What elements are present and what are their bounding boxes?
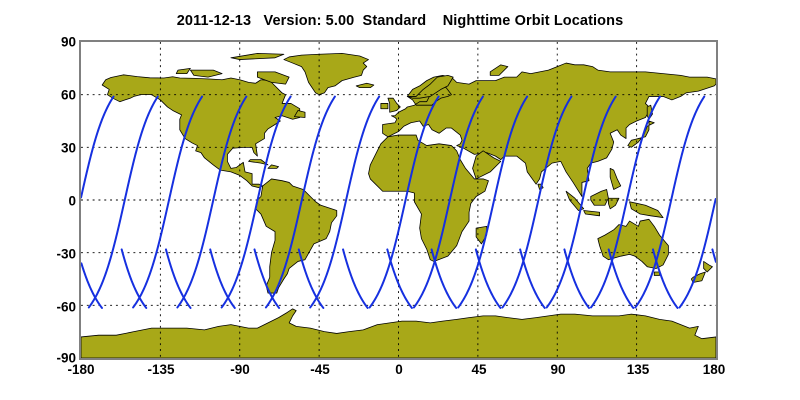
landmass-australia	[598, 219, 669, 268]
landmass-ellesmere	[231, 53, 284, 59]
y-tick-label: -60	[56, 300, 76, 315]
landmass-java	[584, 211, 600, 216]
landmass-novaya	[490, 65, 508, 76]
orbit-track-orbit-8	[81, 97, 113, 198]
landmass-banks	[176, 68, 190, 73]
map-plot-area	[79, 40, 718, 360]
landmass-new-zealand-n	[704, 261, 713, 272]
x-tick-label: 45	[471, 362, 486, 377]
map-canvas	[81, 42, 716, 358]
landmass-philippines	[610, 168, 621, 189]
y-tick-label: 0	[68, 194, 76, 209]
chart-title: 2011-12-13 Version: 5.00 Standard Nightt…	[0, 13, 800, 29]
x-tick-label: -45	[310, 362, 330, 377]
landmass-victoria	[190, 70, 222, 77]
orbit-track-orbit-1	[81, 263, 102, 308]
orbit-track-orbit-1	[712, 249, 716, 261]
y-tick-label: 30	[61, 141, 76, 156]
orbit-track-orbit-3	[166, 249, 191, 308]
orbit-track-orbit-8	[680, 199, 716, 307]
x-tick-label: -90	[230, 362, 250, 377]
landmass-new-guinea	[630, 202, 664, 218]
orbit-track-orbit-7	[343, 249, 368, 308]
x-tick-label: 90	[550, 362, 565, 377]
y-tick-label: -30	[56, 247, 76, 262]
landmass-africa	[369, 135, 489, 261]
landmass-ireland	[381, 103, 388, 108]
landmass-hispaniola	[268, 165, 279, 169]
landmass-se-asia-borneo	[591, 189, 609, 205]
x-tick-label: -135	[147, 362, 174, 377]
y-tick-label: 90	[61, 35, 76, 50]
landmass-tasmania	[654, 272, 659, 276]
x-tick-label: 135	[627, 362, 650, 377]
orbit-track-orbit-4	[210, 249, 235, 308]
y-tick-label: 60	[61, 88, 76, 103]
x-tick-label: 180	[703, 362, 726, 377]
orbit-track-orbit-2	[122, 249, 147, 308]
landmass-iceland	[356, 83, 374, 87]
landmass-greenland	[284, 53, 369, 94]
x-tick-label: 0	[395, 362, 403, 377]
landmass-south-america	[256, 179, 337, 293]
x-tick-label: -180	[67, 362, 94, 377]
orbit-map-figure: 2011-12-13 Version: 5.00 Standard Nightt…	[0, 0, 800, 400]
